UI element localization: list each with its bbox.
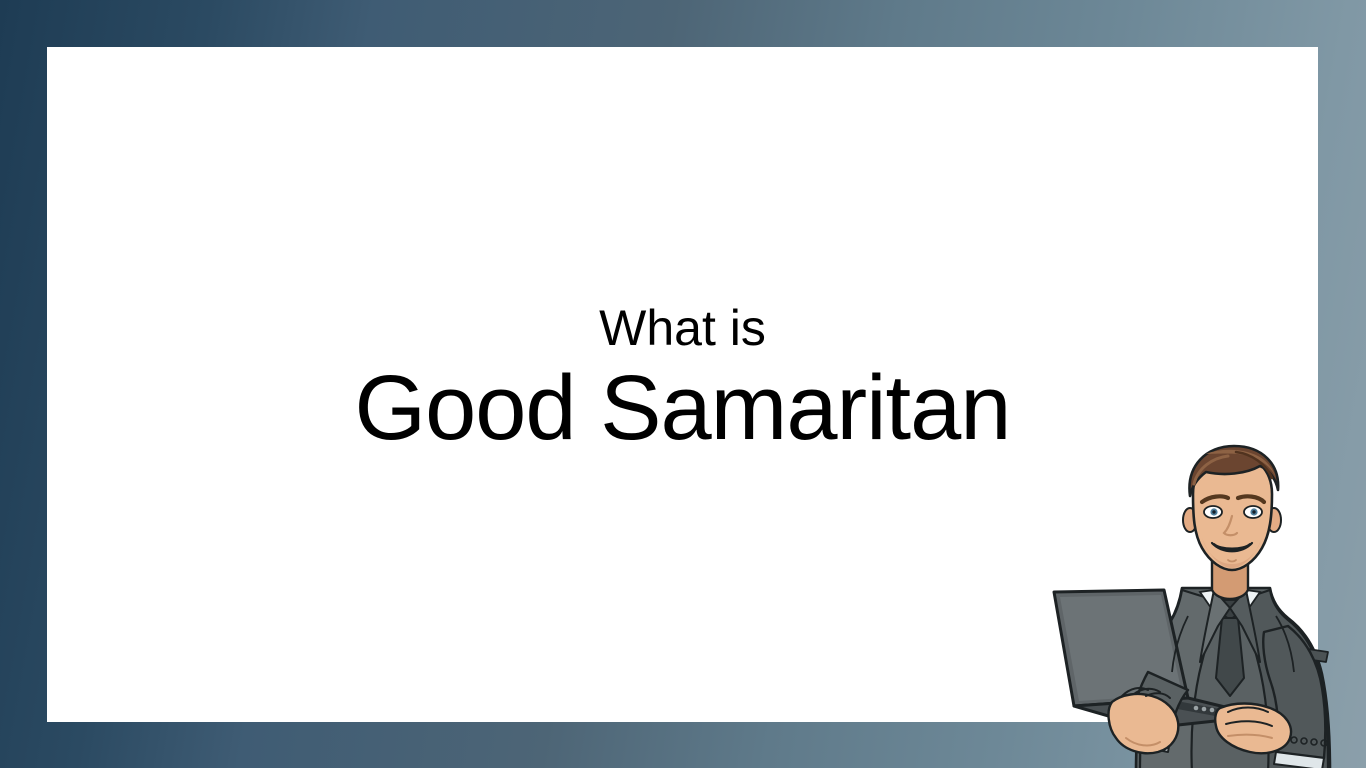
head	[1183, 446, 1281, 599]
businessman-with-laptop-illustration	[1030, 440, 1366, 768]
slide-canvas: What is Good Samaritan	[0, 0, 1366, 768]
